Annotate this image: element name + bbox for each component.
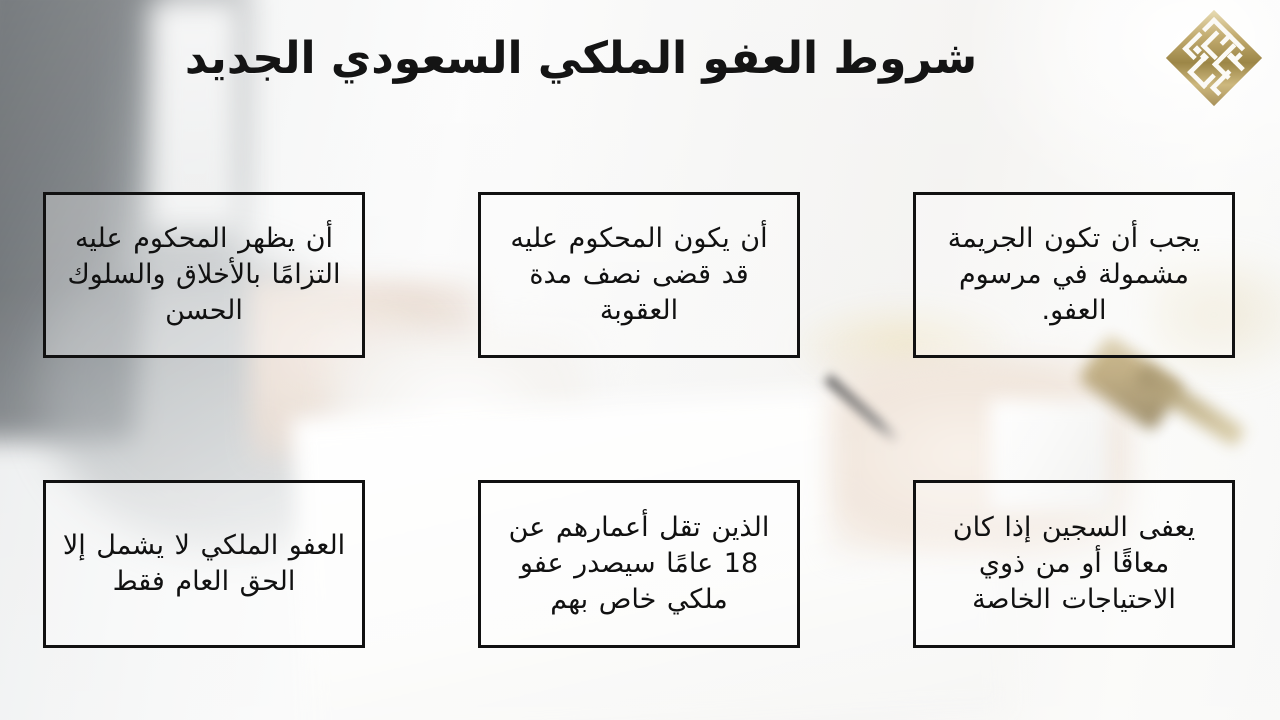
condition-text: الذين تقل أعمارهم عن 18 عامًا سيصدر عفو … bbox=[495, 510, 783, 619]
condition-text: أن يكون المحكوم عليه قد قضى نصف مدة العق… bbox=[495, 221, 783, 330]
condition-box-under-18-special-pardon[interactable]: الذين تقل أعمارهم عن 18 عامًا سيصدر عفو … bbox=[478, 480, 800, 648]
condition-box-disabled-or-special-needs[interactable]: يعفى السجين إذا كان معاقًا أو من ذوي الا… bbox=[913, 480, 1235, 648]
condition-box-crime-covered-by-decree[interactable]: يجب أن تكون الجريمة مشمولة في مرسوم العف… bbox=[913, 192, 1235, 358]
condition-text: أن يظهر المحكوم عليه التزامًا بالأخلاق و… bbox=[60, 221, 348, 330]
condition-text: يجب أن تكون الجريمة مشمولة في مرسوم العف… bbox=[930, 221, 1218, 330]
condition-text: العفو الملكي لا يشمل إلا الحق العام فقط bbox=[60, 528, 348, 600]
slide-canvas: شروط العفو الملكي السعودي الجديد يجب أن … bbox=[0, 0, 1280, 720]
condition-text: يعفى السجين إذا كان معاقًا أو من ذوي الا… bbox=[930, 510, 1218, 619]
page-title: شروط العفو الملكي السعودي الجديد bbox=[0, 34, 1162, 85]
condition-box-public-right-only[interactable]: العفو الملكي لا يشمل إلا الحق العام فقط bbox=[43, 480, 365, 648]
kufic-diamond-logo-icon bbox=[1162, 6, 1266, 110]
condition-box-good-conduct-and-morals[interactable]: أن يظهر المحكوم عليه التزامًا بالأخلاق و… bbox=[43, 192, 365, 358]
conditions-grid: يجب أن تكون الجريمة مشمولة في مرسوم العف… bbox=[43, 192, 1235, 648]
condition-box-half-sentence-served[interactable]: أن يكون المحكوم عليه قد قضى نصف مدة العق… bbox=[478, 192, 800, 358]
